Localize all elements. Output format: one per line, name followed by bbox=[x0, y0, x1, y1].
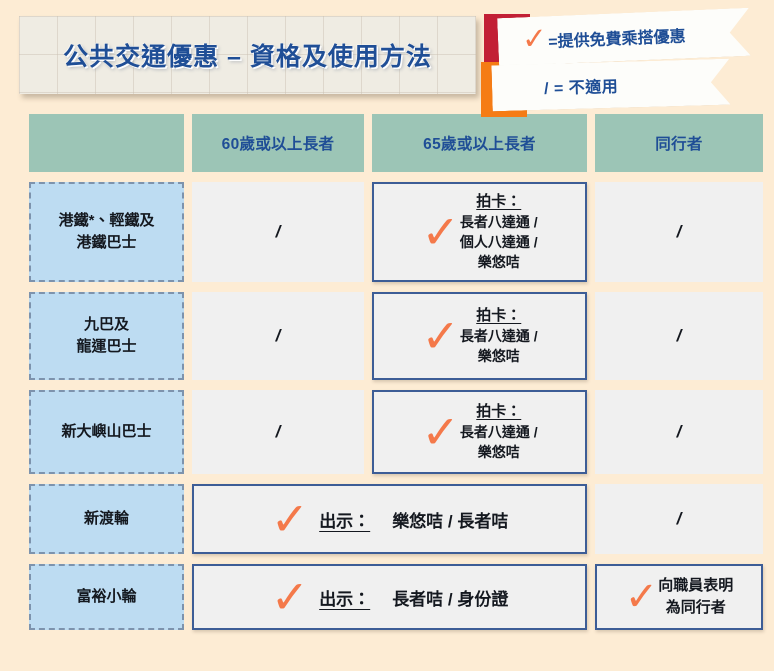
benefit-box-kmb-65: ✓ 拍卡： 長者八達通 / 樂悠咭 bbox=[372, 292, 587, 380]
table-row: 港鐵*、輕鐵及 港鐵巴士 / ✓ 拍卡： 長者八達通 / 個人八達通 / bbox=[29, 182, 763, 282]
cell-kmb-companion: / bbox=[595, 292, 763, 380]
benefit-detail-head: 出示： bbox=[319, 507, 370, 532]
benefit-detail-line: 樂悠咭 bbox=[478, 253, 520, 273]
service-cell-nlb: 新大嶼山巴士 bbox=[29, 390, 184, 474]
header-label-companion: 同行者 bbox=[595, 114, 763, 172]
benefit-box-nlb-65: ✓ 拍卡： 長者八達通 / 樂悠咭 bbox=[372, 390, 587, 474]
header-label-65: 65歲或以上長者 bbox=[372, 114, 587, 172]
cell-sunferry-companion: / bbox=[595, 484, 763, 554]
benefit-box-sunferry: ✓ 出示： 樂悠咭 / 長者咭 bbox=[192, 484, 587, 554]
service-line-1: 九巴及 bbox=[76, 314, 136, 337]
page-title: 公共交通優惠 – 資格及使用方法 bbox=[63, 37, 432, 73]
table-row: 富裕小輪 ✓ 出示： 長者咭 / 身份證 ✓ 向職員表明 為同行者 bbox=[29, 564, 763, 630]
benefit-detail-head: 出示： bbox=[319, 585, 370, 610]
legend-free-ribbon: ✓ =提供免費乘搭優惠 bbox=[497, 8, 751, 67]
header-blank-box bbox=[29, 114, 184, 172]
na-box: / bbox=[595, 292, 763, 380]
na-box: / bbox=[595, 390, 763, 474]
service-cell-mtr: 港鐵*、輕鐵及 港鐵巴士 bbox=[29, 182, 184, 282]
cell-mtr-60: / bbox=[192, 182, 364, 282]
service-cell-sunferry: 新渡輪 bbox=[29, 484, 184, 554]
title-plaque: 公共交通優惠 – 資格及使用方法 bbox=[19, 16, 476, 94]
table-row: 九巴及 龍運巴士 / ✓ 拍卡： 長者八達通 / 樂悠咭 bbox=[29, 292, 763, 380]
checkmark-icon: ✓ bbox=[521, 24, 547, 55]
benefits-table: 60歲或以上長者 65歲或以上長者 同行者 港鐵*、輕鐵及 港鐵巴士 bbox=[21, 104, 771, 640]
benefit-box-fortuneferry: ✓ 出示： 長者咭 / 身份證 bbox=[192, 564, 587, 630]
na-slash: / bbox=[276, 326, 281, 346]
cell-kmb-65: ✓ 拍卡： 長者八達通 / 樂悠咭 bbox=[372, 292, 587, 380]
header-cell-blank bbox=[29, 114, 184, 172]
cell-sunferry-merged: ✓ 出示： 樂悠咭 / 長者咭 bbox=[192, 484, 587, 554]
header-label-60: 60歲或以上長者 bbox=[192, 114, 364, 172]
checkmark-icon: ✓ bbox=[625, 581, 659, 613]
companion-detail: 向職員表明 為同行者 bbox=[658, 575, 733, 619]
checkmark-icon: ✓ bbox=[421, 214, 460, 251]
table-row: 新大嶼山巴士 / ✓ 拍卡： 長者八達通 / 樂悠咭 bbox=[29, 390, 763, 474]
header-cell-65: 65歲或以上長者 bbox=[372, 114, 587, 172]
na-slash: / bbox=[677, 422, 682, 442]
benefit-detail-head: 拍卡： bbox=[476, 305, 521, 326]
na-slash: / bbox=[677, 222, 682, 242]
companion-line-2: 為同行者 bbox=[666, 597, 726, 619]
checkmark-icon: ✓ bbox=[271, 579, 310, 616]
cell-mtr-65: ✓ 拍卡： 長者八達通 / 個人八達通 / 樂悠咭 bbox=[372, 182, 587, 282]
cell-nlb-60: / bbox=[192, 390, 364, 474]
companion-line-1: 向職員表明 bbox=[658, 575, 733, 597]
cell-kmb-60: / bbox=[192, 292, 364, 380]
benefit-detail: 拍卡： 長者八達通 / 個人八達通 / 樂悠咭 bbox=[460, 191, 538, 273]
benefit-detail-line: 長者八達通 / bbox=[460, 327, 538, 347]
na-slash: / bbox=[677, 326, 682, 346]
na-slash: / bbox=[677, 509, 682, 529]
service-label-kmb: 九巴及 龍運巴士 bbox=[29, 292, 184, 380]
table-row: 新渡輪 ✓ 出示： 樂悠咭 / 長者咭 / bbox=[29, 484, 763, 554]
benefit-detail-line: 樂悠咭 bbox=[478, 347, 520, 367]
na-box: / bbox=[595, 484, 763, 554]
service-label-fortuneferry: 富裕小輪 bbox=[29, 564, 184, 630]
na-slash: / bbox=[276, 422, 281, 442]
checkmark-icon: ✓ bbox=[421, 318, 460, 355]
table-header-row: 60歲或以上長者 65歲或以上長者 同行者 bbox=[29, 114, 763, 172]
service-line-1: 港鐵*、輕鐵及 bbox=[59, 210, 155, 233]
benefit-detail-head: 拍卡： bbox=[476, 191, 521, 212]
benefit-detail-line: 樂悠咭 / 長者咭 bbox=[392, 507, 508, 532]
cell-nlb-65: ✓ 拍卡： 長者八達通 / 樂悠咭 bbox=[372, 390, 587, 474]
checkmark-icon: ✓ bbox=[421, 414, 460, 451]
checkmark-icon: ✓ bbox=[271, 501, 310, 538]
legend-free-label: =提供免費乘搭優惠 bbox=[548, 22, 686, 52]
benefit-box-fortuneferry-companion: ✓ 向職員表明 為同行者 bbox=[595, 564, 763, 630]
cell-fortuneferry-merged: ✓ 出示： 長者咭 / 身份證 bbox=[192, 564, 587, 630]
service-cell-fortuneferry: 富裕小輪 bbox=[29, 564, 184, 630]
na-slash: / bbox=[276, 222, 281, 242]
benefit-detail-line: 樂悠咭 bbox=[478, 443, 520, 463]
cell-fortuneferry-companion: ✓ 向職員表明 為同行者 bbox=[595, 564, 763, 630]
na-box: / bbox=[192, 292, 364, 380]
service-cell-kmb: 九巴及 龍運巴士 bbox=[29, 292, 184, 380]
legend: ✓ =提供免費乘搭優惠 / = 不適用 bbox=[480, 4, 774, 116]
benefit-detail-head: 拍卡： bbox=[476, 401, 521, 422]
benefit-detail: 拍卡： 長者八達通 / 樂悠咭 bbox=[460, 401, 538, 463]
na-box: / bbox=[595, 182, 763, 282]
service-label-mtr: 港鐵*、輕鐵及 港鐵巴士 bbox=[29, 182, 184, 282]
benefit-detail-line: 長者八達通 / bbox=[460, 423, 538, 443]
service-line-1: 新大嶼山巴士 bbox=[61, 421, 151, 444]
cell-mtr-companion: / bbox=[595, 182, 763, 282]
service-label-sunferry: 新渡輪 bbox=[29, 484, 184, 554]
service-label-nlb: 新大嶼山巴士 bbox=[29, 390, 184, 474]
benefit-detail-line: 個人八達通 / bbox=[460, 233, 538, 253]
legend-na-label: / = 不適用 bbox=[544, 73, 619, 99]
service-line-1: 富裕小輪 bbox=[76, 586, 136, 609]
na-box: / bbox=[192, 390, 364, 474]
service-line-2: 龍運巴士 bbox=[76, 336, 136, 359]
benefit-detail-line: 長者咭 / 身份證 bbox=[392, 585, 508, 610]
header-cell-companion: 同行者 bbox=[595, 114, 763, 172]
benefit-detail-line: 長者八達通 / bbox=[460, 213, 538, 233]
legend-na-ribbon: / = 不適用 bbox=[491, 59, 730, 112]
benefit-detail: 拍卡： 長者八達通 / 樂悠咭 bbox=[460, 305, 538, 367]
cell-nlb-companion: / bbox=[595, 390, 763, 474]
na-box: / bbox=[192, 182, 364, 282]
benefit-box-mtr-65: ✓ 拍卡： 長者八達通 / 個人八達通 / 樂悠咭 bbox=[372, 182, 587, 282]
service-line-1: 新渡輪 bbox=[84, 508, 129, 531]
service-line-2: 港鐵巴士 bbox=[59, 232, 155, 255]
header-cell-60: 60歲或以上長者 bbox=[192, 114, 364, 172]
